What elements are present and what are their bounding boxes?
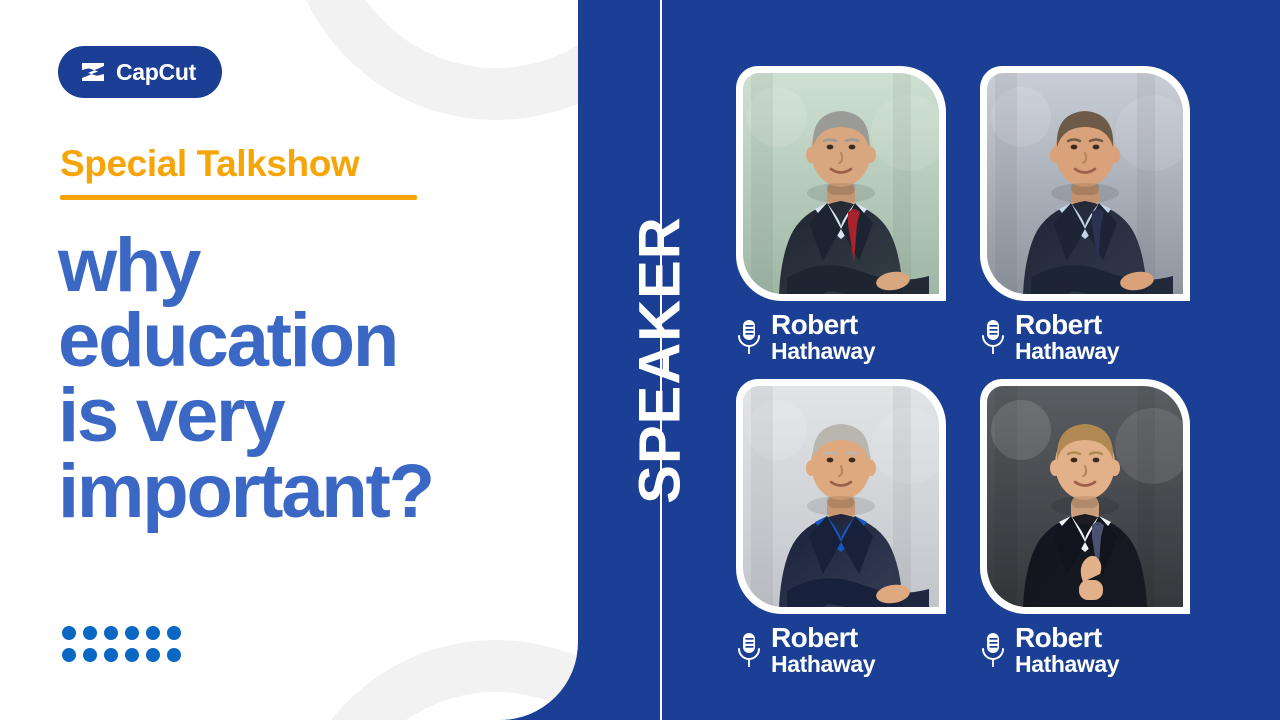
decorative-ring-top [286,0,578,120]
headline-line-2: education [58,303,558,378]
speaker-name-block: RobertHathaway [1015,311,1119,363]
capcut-logo-text: CapCut [116,61,196,84]
speaker-photo [743,386,939,607]
microphone-icon [980,318,1006,356]
speaker-name-block: RobertHathaway [1015,624,1119,676]
speaker-name-block: RobertHathaway [771,624,875,676]
decorative-dot-grid [62,626,181,662]
decorative-dot [104,626,118,640]
eyebrow-group: Special Talkshow [60,144,417,200]
speaker-card-grid: RobertHathaway [736,66,1206,676]
decorative-dot [104,648,118,662]
headline-line-1: why [58,228,558,303]
microphone-icon [736,631,762,669]
speaker-portrait-illustration [987,73,1183,294]
speaker-photo [987,73,1183,294]
decorative-dot [125,626,139,640]
eyebrow-underline [60,195,417,200]
speaker-last-name: Hathaway [1015,653,1119,676]
speaker-section-label: SPEAKER [627,216,694,503]
decorative-dot [146,648,160,662]
speaker-name-block: RobertHathaway [771,311,875,363]
speaker-name-row: RobertHathaway [980,311,1190,363]
speaker-name-row: RobertHathaway [736,311,946,363]
speaker-last-name: Hathaway [771,653,875,676]
speaker-first-name: Robert [1015,624,1119,652]
speaker-first-name: Robert [1015,311,1119,339]
speaker-card[interactable]: RobertHathaway [736,66,946,363]
speaker-first-name: Robert [771,624,875,652]
speaker-photo-frame [736,66,946,301]
speaker-photo-frame [980,379,1190,614]
decorative-ring-bottom [286,640,578,720]
decorative-dot [83,626,97,640]
speaker-portrait-illustration [987,386,1183,607]
banner-canvas: CapCut Special Talkshow why education is… [0,0,1280,720]
eyebrow-text: Special Talkshow [60,144,417,184]
speaker-photo [987,386,1183,607]
capcut-logo-badge[interactable]: CapCut [58,46,222,98]
decorative-dot [62,626,76,640]
decorative-dot [167,648,181,662]
speaker-name-row: RobertHathaway [736,624,946,676]
speaker-portrait-illustration [743,386,939,607]
speaker-card[interactable]: RobertHathaway [736,379,946,676]
speaker-photo-frame [736,379,946,614]
speaker-name-row: RobertHathaway [980,624,1190,676]
headline-line-4: important? [58,454,558,529]
capcut-hourglass-icon [80,61,106,83]
headline-line-3: is very [58,378,558,453]
speaker-card[interactable]: RobertHathaway [980,66,1190,363]
speaker-photo [743,73,939,294]
decorative-dot [146,626,160,640]
page-title: why education is very important? [58,228,558,529]
decorative-dot [62,648,76,662]
speaker-card[interactable]: RobertHathaway [980,379,1190,676]
microphone-icon [980,631,1006,669]
speaker-last-name: Hathaway [771,340,875,363]
microphone-icon [736,318,762,356]
speaker-portrait-illustration [743,73,939,294]
speaker-first-name: Robert [771,311,875,339]
speaker-last-name: Hathaway [1015,340,1119,363]
speaker-photo-frame [980,66,1190,301]
decorative-dot [167,626,181,640]
decorative-dot [83,648,97,662]
decorative-dot [125,648,139,662]
